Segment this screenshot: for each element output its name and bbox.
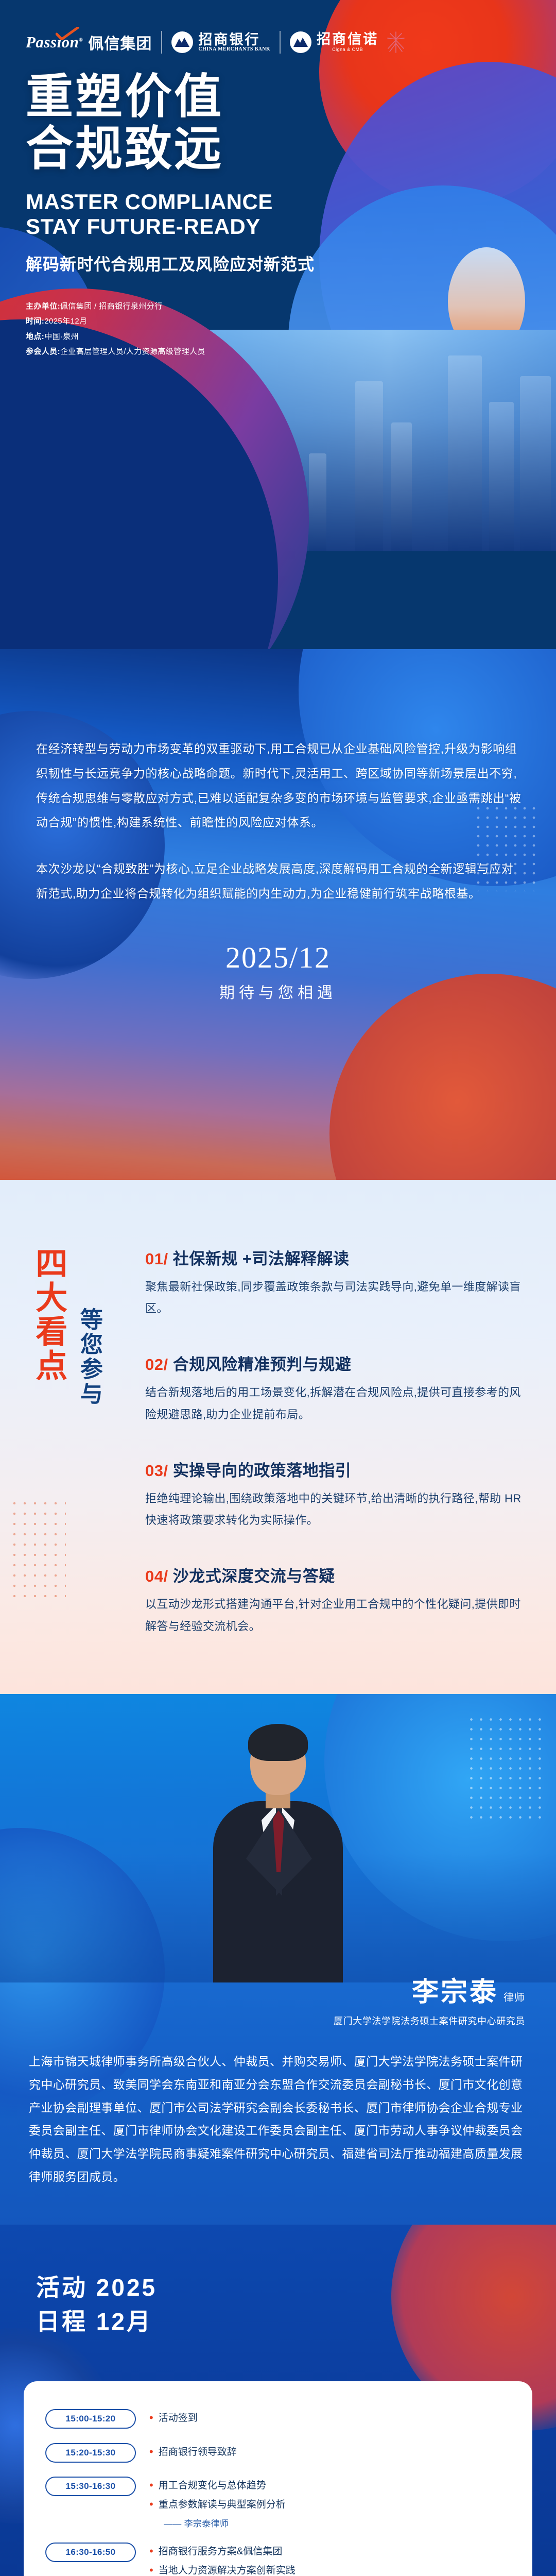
agenda-item: • 用工合规变化与总体趋势: [149, 2478, 511, 2494]
highlight-number: 03/: [145, 1462, 168, 1480]
agenda-item: • 重点参数解读与典型案例分析: [149, 2497, 511, 2513]
intro-date-block: 2025/12 期待与您相遇: [0, 940, 556, 1003]
cmb-cn-name: 招商银行: [198, 32, 270, 47]
highlights-heading-red: 四大看点: [32, 1247, 64, 1383]
highlight-number: 02/: [145, 1355, 168, 1374]
highlight-heading: 01/ 社保新规 +司法解释解读: [145, 1246, 527, 1269]
highlight-heading: 04/ 沙龙式深度交流与答疑: [145, 1563, 527, 1586]
cigna-text-lockup: 招商信诺 Cigna & CMB: [317, 32, 378, 53]
passion-wordmark: Passion®: [26, 33, 83, 52]
meta-row-attendees: 参会人员:企业高层管理人员/人力资源高级管理人员: [26, 344, 530, 359]
agenda-item: • 活动签到: [149, 2411, 511, 2427]
agenda-item: • 招商银行领导致辞: [149, 2445, 511, 2461]
highlight-title: 合规风险精准预判与规避: [173, 1355, 352, 1374]
agenda-item-speaker: —— 李宗泰律师: [164, 2516, 511, 2529]
speaker-role: 律师: [503, 1992, 525, 2004]
highlights-heading-blue: 等您参与: [77, 1308, 100, 1406]
cmb-en-name: CHINA MERCHANTS BANK: [198, 47, 270, 53]
highlight-item: 04/ 沙龙式深度交流与答疑 以互动沙龙形式搭建沟通平台,针对企业用工合规中的个…: [145, 1563, 527, 1637]
decor-swirl-3: [329, 974, 556, 1180]
meta-value-attendees: 企业高层管理人员/人力资源高级管理人员: [60, 347, 205, 356]
agenda-item-text: 招商银行服务方案&佩信集团: [159, 2544, 283, 2560]
agenda-heading: 活动 2025 日程 12月: [0, 2225, 556, 2337]
highlight-number: 01/: [145, 1250, 168, 1268]
registered-mark-icon: ®: [79, 38, 83, 43]
meta-label-location: 地点:: [26, 332, 44, 341]
speaker-bio: 上海市锦天城律师事务所高级合伙人、仲裁员、并购交易师、厦门大学法学院法务硕士案件…: [0, 2050, 556, 2189]
highlight-title: 实操导向的政策落地指引: [173, 1462, 352, 1480]
meta-label-attendees: 参会人员:: [26, 347, 60, 356]
english-subtitle-line-2: STAY FUTURE-READY: [26, 214, 530, 239]
logo-cmb: 招商银行 CHINA MERCHANTS BANK: [171, 31, 270, 53]
poster-page: Passion® 佩信集团 招商银行: [0, 0, 556, 2576]
highlight-title: 沙龙式深度交流与答疑: [173, 1567, 335, 1585]
meta-label-time: 时间:: [26, 317, 44, 326]
highlight-item: 03/ 实操导向的政策落地指引 拒绝纯理论输出,围绕政策落地中的关键环节,给出清…: [145, 1458, 527, 1531]
cigna-en-name: Cigna & CMB: [317, 47, 378, 52]
agenda-row-body: • 招商银行领导致辞: [136, 2443, 511, 2464]
logo-divider-1: [161, 31, 162, 54]
agenda-item-text: 重点参数解读与典型案例分析: [159, 2497, 286, 2513]
intro-date-caption: 期待与您相遇: [0, 980, 556, 1003]
english-subtitle: MASTER COMPLIANCE STAY FUTURE-READY: [26, 190, 530, 239]
cigna-tree-icon: [386, 31, 406, 54]
meta-value-location: 中国·泉州: [44, 332, 79, 341]
speaker-section: 李宗泰律师 厦门大学法学院法务硕士案件研究中心研究员 上海市锦天城律师事务所高级…: [0, 1694, 556, 2225]
highlight-heading: 02/ 合规风险精准预判与规避: [145, 1351, 527, 1375]
meta-row-location: 地点:中国·泉州: [26, 329, 530, 344]
english-subtitle-line-1: MASTER COMPLIANCE: [26, 190, 530, 214]
highlights-vertical-heading: 四大看点 等您参与: [29, 1242, 127, 1637]
agenda-heading-line-1: 活动 2025: [36, 2269, 556, 2303]
agenda-heading-line-2: 日程 12月: [36, 2303, 556, 2337]
meta-row-organizer: 主办单位:佩信集团 / 招商银行泉州分行: [26, 299, 530, 314]
highlights-section: 四大看点 等您参与 01/ 社保新规 +司法解释解读 聚焦最新社保政策,同步覆盖…: [0, 1180, 556, 1694]
highlight-number: 04/: [145, 1567, 168, 1585]
bullet-icon: •: [149, 2445, 153, 2459]
bullet-icon: •: [149, 2478, 153, 2493]
cigna-cn-name: 招商信诺: [317, 32, 378, 46]
agenda-time-badge: 15:30-16:30: [45, 2477, 136, 2496]
bullet-icon: •: [149, 2563, 153, 2576]
agenda-item-text: 用工合规变化与总体趋势: [159, 2478, 266, 2494]
highlight-description: 以互动沙龙形式搭建沟通平台,针对企业用工合规中的个性化疑问,提供即时解答与经验交…: [145, 1594, 527, 1637]
bullet-icon: •: [149, 2544, 153, 2558]
highlight-description: 结合新规落地后的用工场景变化,拆解潜在合规风险点,提供可直接参考的风险规避思路,…: [145, 1382, 527, 1425]
agenda-item-text: 招商银行领导致辞: [159, 2445, 237, 2461]
meta-value-time: 2025年12月: [44, 317, 87, 326]
meta-value-organizer: 佩信集团 / 招商银行泉州分行: [60, 302, 163, 311]
intro-date-big: 2025/12: [0, 940, 556, 975]
agenda-item-text: 活动签到: [159, 2411, 198, 2427]
highlight-description: 拒绝纯理论输出,围绕政策落地中的关键环节,给出清晰的执行路径,帮助 HR 快速将…: [145, 1488, 527, 1531]
intro-paragraph-2: 本次沙龙以“合规致胜”为核心,立足企业战略发展高度,深度解码用工合规的全新逻辑与…: [36, 857, 525, 906]
agenda-item: • 当地人力资源解决方案创新实践: [149, 2563, 511, 2576]
hero-section: Passion® 佩信集团 招商银行: [0, 0, 556, 649]
agenda-row: 15:30-16:30 • 用工合规变化与总体趋势 • 重点参数解读与典型案例分…: [45, 2477, 511, 2529]
check-tick-icon: [56, 27, 79, 40]
meta-label-organizer: 主办单位:: [26, 302, 60, 311]
cmb-mark-icon: [171, 31, 193, 53]
page-title: 重塑价值 合规致远: [26, 71, 530, 175]
agenda-item-text: 当地人力资源解决方案创新实践: [159, 2563, 296, 2576]
highlight-item: 01/ 社保新规 +司法解释解读 聚焦最新社保政策,同步覆盖政策条款与司法实践导…: [145, 1246, 527, 1319]
title-line-2: 合规致远: [26, 123, 530, 175]
agenda-row-body: • 活动签到: [136, 2409, 511, 2430]
speaker-affiliation: 厦门大学法学院法务硕士案件研究中心研究员: [31, 2014, 525, 2027]
cigna-mark-icon: [290, 31, 311, 53]
bullet-icon: •: [149, 2411, 153, 2425]
agenda-item: • 招商银行服务方案&佩信集团: [149, 2544, 511, 2560]
speaker-photo: [0, 1694, 556, 1982]
logo-divider-2: [280, 31, 281, 54]
chinese-subtitle: 解码新时代合规用工及风险应对新范式: [26, 251, 530, 275]
highlight-title: 社保新规 +司法解释解读: [173, 1250, 350, 1268]
agenda-time-badge: 15:00-15:20: [45, 2409, 136, 2429]
cmb-text-lockup: 招商银行 CHINA MERCHANTS BANK: [198, 32, 270, 53]
logo-cigna-cmb: 招商信诺 Cigna & CMB: [290, 31, 406, 54]
intro-paragraph-1: 在经济转型与劳动力市场变革的双重驱动下,用工合规已从企业基础风险管控,升级为影响…: [36, 737, 525, 835]
highlights-list: 01/ 社保新规 +司法解释解读 聚焦最新社保政策,同步覆盖政策条款与司法实践导…: [145, 1242, 527, 1637]
logo-bar: Passion® 佩信集团 招商银行: [26, 0, 530, 42]
speaker-figure-illustration: [201, 1715, 355, 1982]
agenda-row: 16:30-16:50 • 招商银行服务方案&佩信集团 • 当地人力资源解决方案…: [45, 2543, 511, 2576]
event-meta-list: 主办单位:佩信集团 / 招商银行泉州分行 时间:2025年12月 地点:中国·泉…: [26, 299, 530, 359]
title-line-1: 重塑价值: [26, 71, 530, 123]
speaker-name-block: 李宗泰律师 厦门大学法学院法务硕士案件研究中心研究员: [0, 1970, 556, 2027]
speaker-name: 李宗泰: [412, 1970, 498, 2009]
logo-passion: Passion® 佩信集团: [26, 31, 152, 54]
passion-cn-name: 佩信集团: [88, 31, 152, 54]
highlight-heading: 03/ 实操导向的政策落地指引: [145, 1458, 527, 1481]
agenda-time-badge: 16:30-16:50: [45, 2543, 136, 2562]
bullet-icon: •: [149, 2497, 153, 2512]
agenda-row-body: • 用工合规变化与总体趋势 • 重点参数解读与典型案例分析 —— 李宗泰律师: [136, 2477, 511, 2529]
agenda-card: 15:00-15:20 • 活动签到 15:20-15:30 • 招商银行领导致…: [24, 2381, 532, 2576]
agenda-section: 活动 2025 日程 12月 15:00-15:20 • 活动签到 15:20-…: [0, 2225, 556, 2576]
agenda-row: 15:20-15:30 • 招商银行领导致辞: [45, 2443, 511, 2464]
meta-row-time: 时间:2025年12月: [26, 314, 530, 329]
agenda-time-badge: 15:20-15:30: [45, 2443, 136, 2463]
agenda-row: 15:00-15:20 • 活动签到: [45, 2409, 511, 2430]
intro-section: 在经济转型与劳动力市场变革的双重驱动下,用工合规已从企业基础风险管控,升级为影响…: [0, 649, 556, 1180]
highlight-item: 02/ 合规风险精准预判与规避 结合新规落地后的用工场景变化,拆解潜在合规风险点…: [145, 1351, 527, 1425]
highlight-description: 聚焦最新社保政策,同步覆盖政策条款与司法实践导向,避免单一维度解读盲区。: [145, 1276, 527, 1319]
agenda-row-body: • 招商银行服务方案&佩信集团 • 当地人力资源解决方案创新实践: [136, 2543, 511, 2576]
